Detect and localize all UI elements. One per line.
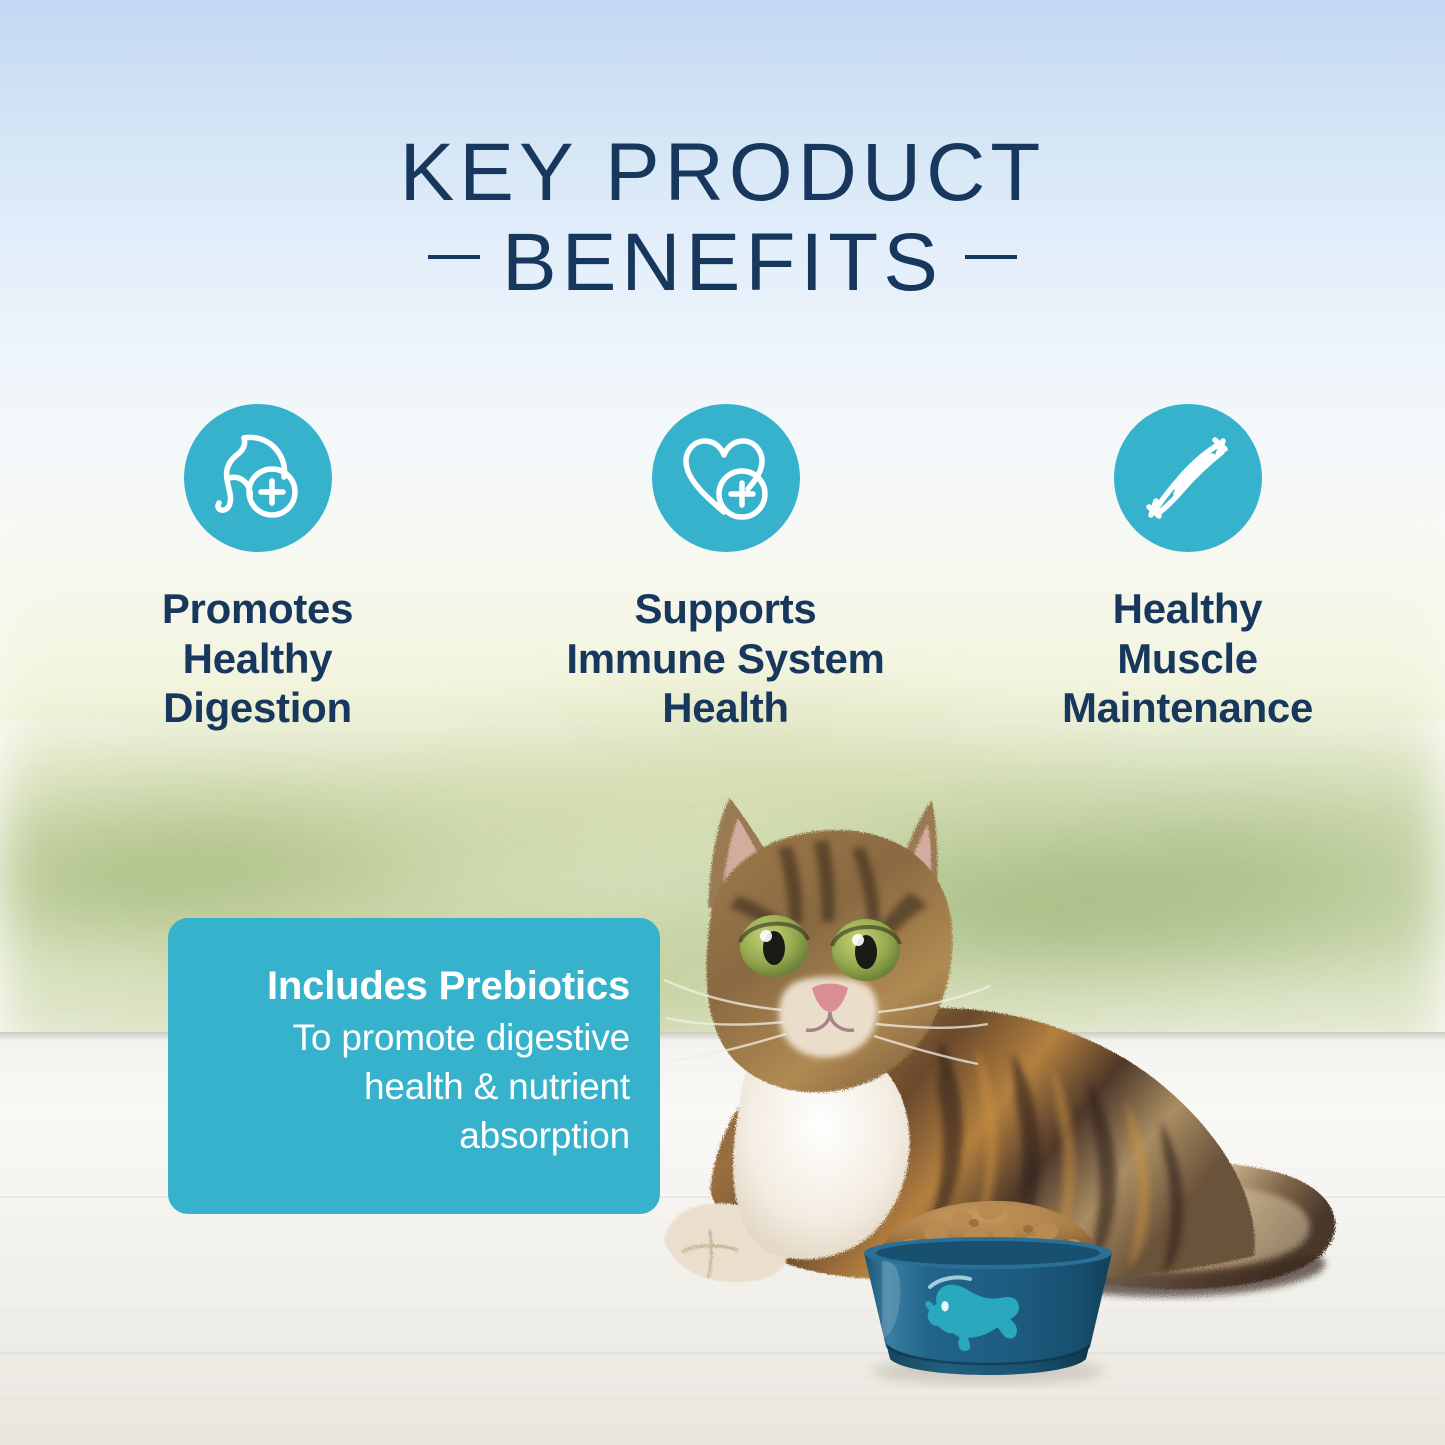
callout-body: To promote digestive health & nutrient a… (202, 1014, 630, 1160)
benefit-item-immune: Supports Immune System Health (511, 404, 941, 733)
benefit-label-line: Healthy (1062, 584, 1313, 634)
benefit-label-line: Digestion (162, 683, 353, 733)
stomach-plus-icon (184, 404, 332, 552)
benefit-label-line: Maintenance (1062, 683, 1313, 733)
page-title: KEY PRODUCT BENEFITS (0, 128, 1445, 308)
dash-right-icon (965, 255, 1017, 259)
table-plank-seam (0, 1352, 1445, 1354)
dash-left-icon (428, 255, 480, 259)
title-line-2: BENEFITS (0, 218, 1445, 308)
benefit-item-digestion: Promotes Healthy Digestion (43, 404, 473, 733)
title-line-2-text: BENEFITS (502, 217, 943, 308)
benefits-row: Promotes Healthy Digestion Supports Immu… (0, 404, 1445, 733)
benefit-label-muscle: Healthy Muscle Maintenance (1062, 584, 1313, 733)
heart-plus-icon (652, 404, 800, 552)
benefit-label-digestion: Promotes Healthy Digestion (162, 584, 353, 733)
benefit-label-line: Muscle (1062, 634, 1313, 684)
callout-body-line: absorption (202, 1112, 630, 1161)
callout-title: Includes Prebiotics (202, 962, 630, 1010)
benefit-label-line: Promotes (162, 584, 353, 634)
benefit-label-line: Health (566, 683, 884, 733)
benefit-label-line: Supports (566, 584, 884, 634)
callout-body-line: health & nutrient (202, 1063, 630, 1112)
benefit-label-line: Immune System (566, 634, 884, 684)
product-benefits-canvas: KEY PRODUCT BENEFITS Promotes Healthy Di… (0, 0, 1445, 1445)
title-line-1: KEY PRODUCT (0, 128, 1445, 218)
pet-food-bowl (838, 1195, 1138, 1395)
muscle-fiber-icon (1114, 404, 1262, 552)
callout-body-line: To promote digestive (202, 1014, 630, 1063)
benefit-label-immune: Supports Immune System Health (566, 584, 884, 733)
benefit-item-muscle: Healthy Muscle Maintenance (973, 404, 1403, 733)
benefit-label-line: Healthy (162, 634, 353, 684)
prebiotics-callout: Includes Prebiotics To promote digestive… (168, 918, 660, 1214)
